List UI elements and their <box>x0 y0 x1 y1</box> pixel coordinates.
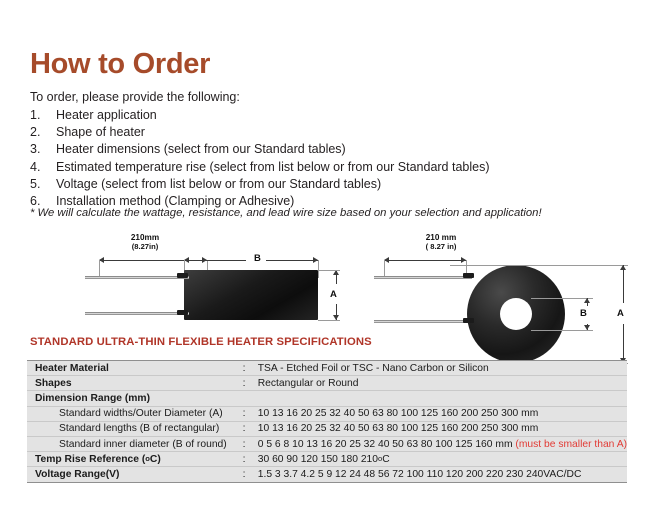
row-label: Voltage Range(V) <box>27 467 243 482</box>
list-item: 2. Shape of heater <box>30 124 620 141</box>
rect-lead-wire-top <box>85 276 189 279</box>
table-row: Shapes : Rectangular or Round <box>27 376 627 391</box>
row-value-numbers: 0 5 6 8 10 13 16 20 25 32 40 50 63 80 10… <box>258 439 513 450</box>
rect-b-line-right <box>266 260 318 261</box>
row-value: Rectangular or Round <box>252 376 627 391</box>
round-a-arrow-up <box>620 265 626 270</box>
table-row: Temp Rise Reference (oC) : 30 60 90 120 … <box>27 452 627 467</box>
list-item-label: Heater dimensions (select from our Stand… <box>56 141 620 158</box>
list-item-label: Voltage (select from list below or from … <box>56 176 620 193</box>
list-item: 1. Heater application <box>30 107 620 124</box>
rect-b-ext-right <box>318 260 319 278</box>
list-item: 3. Heater dimensions (select from our St… <box>30 141 620 158</box>
round-b-ext-bottom <box>531 330 593 331</box>
table-row: Heater Material : TSA - Etched Foil or T… <box>27 361 627 376</box>
row-label: Heater Material <box>27 361 243 376</box>
intro-text: To order, please provide the following: <box>30 90 240 104</box>
list-item-label: Estimated temperature rise (select from … <box>56 159 620 176</box>
row-colon: : <box>243 421 252 436</box>
list-item: 4. Estimated temperature rise (select fr… <box>30 159 620 176</box>
table-row: Standard lengths (B of rectangular) : 10… <box>27 421 627 436</box>
spec-section-heading: STANDARD ULTRA-THIN FLEXIBLE HEATER SPEC… <box>30 336 372 348</box>
row-value-tail: C <box>382 454 389 465</box>
specifications-table: Heater Material : TSA - Etched Foil or T… <box>27 360 627 483</box>
rect-lead-wire-bottom <box>85 312 189 315</box>
row-label: Dimension Range (mm) <box>27 391 243 406</box>
table-row: Standard inner diameter (B of round) : 0… <box>27 436 627 451</box>
row-value: 30 60 90 120 150 180 210oC <box>252 452 627 467</box>
list-item-number: 2. <box>30 124 56 141</box>
inner-diameter-warning: (must be smaller than A) <box>515 439 627 450</box>
rect-heater-body <box>184 270 318 320</box>
row-colon: : <box>243 436 252 451</box>
rect-lead-length-label: 210mm (8.27in) <box>110 233 180 252</box>
row-value: 0 5 6 8 10 13 16 20 25 32 40 50 63 80 10… <box>252 436 627 451</box>
row-value: TSA - Etched Foil or TSC - Nano Carbon o… <box>252 361 627 376</box>
row-value-numbers: 30 60 90 120 150 180 210 <box>258 454 378 465</box>
degree-superscript: o <box>145 454 150 463</box>
round-crimp-top <box>463 273 474 278</box>
list-item: 5. Voltage (select from list below or fr… <box>30 176 620 193</box>
round-lead-length-label: 210 mm ( 8.27 in) <box>401 233 481 252</box>
round-crimp-bottom <box>463 318 474 323</box>
row-colon: : <box>243 376 252 391</box>
row-label: Standard widths/Outer Diameter (A) <box>27 406 243 421</box>
row-colon: : <box>243 452 252 467</box>
row-label-text: Temp Rise Reference ( <box>35 454 145 465</box>
round-b-arrow-up <box>584 298 590 303</box>
round-a-ext-top <box>450 265 628 266</box>
row-value: 10 13 16 20 25 32 40 50 63 80 100 125 16… <box>252 406 627 421</box>
row-label: Shapes <box>27 376 243 391</box>
row-value: 1.5 3 3.7 4.2 5 9 12 24 48 56 72 100 110… <box>252 467 627 482</box>
rect-crimp-bottom <box>177 310 188 315</box>
page-title: How to Order <box>30 50 210 79</box>
round-lead-wire-bottom <box>374 320 472 323</box>
row-label: Standard lengths (B of rectangular) <box>27 421 243 436</box>
round-a-line-top <box>623 265 624 303</box>
list-item-number: 4. <box>30 159 56 176</box>
order-steps-list: 1. Heater application 2. Shape of heater… <box>30 107 620 210</box>
list-item-label: Heater application <box>56 107 620 124</box>
round-lead-dimension-line <box>384 260 466 261</box>
round-heater-inner-hole <box>500 298 532 330</box>
list-item-number: 5. <box>30 176 56 193</box>
rect-crimp-top <box>177 273 188 278</box>
row-value: 10 13 16 20 25 32 40 50 63 80 100 125 16… <box>252 421 627 436</box>
row-label: Standard inner diameter (B of round) <box>27 436 243 451</box>
round-b-arrow-down <box>584 325 590 330</box>
row-value <box>252 391 627 406</box>
row-colon: : <box>243 467 252 482</box>
table-row: Standard widths/Outer Diameter (A) : 10 … <box>27 406 627 421</box>
rect-a-ext-bottom <box>318 320 340 321</box>
row-colon: : <box>243 406 252 421</box>
list-item-number: 3. <box>30 141 56 158</box>
round-lead-wire-top <box>374 276 472 279</box>
row-label-tail: C) <box>150 454 161 465</box>
table-row: Voltage Range(V) : 1.5 3 3.7 4.2 5 9 12 … <box>27 467 627 482</box>
table-row: Dimension Range (mm) <box>27 391 627 406</box>
rect-height-letter: A <box>330 289 337 300</box>
list-item-label: Shape of heater <box>56 124 620 141</box>
heater-diagrams: 210mm (8.27in) B A <box>0 228 650 338</box>
row-colon: : <box>243 361 252 376</box>
list-item-number: 1. <box>30 107 56 124</box>
rect-width-letter: B <box>254 253 261 264</box>
rect-a-ext-top <box>318 270 340 271</box>
row-label: Temp Rise Reference (oC) <box>27 452 243 467</box>
row-colon <box>243 391 252 406</box>
calculation-note: * We will calculate the wattage, resista… <box>30 207 542 219</box>
round-outer-letter: A <box>617 308 624 319</box>
degree-superscript: o <box>378 454 382 463</box>
round-inner-letter: B <box>580 308 587 319</box>
rect-b-line-left <box>184 260 246 261</box>
